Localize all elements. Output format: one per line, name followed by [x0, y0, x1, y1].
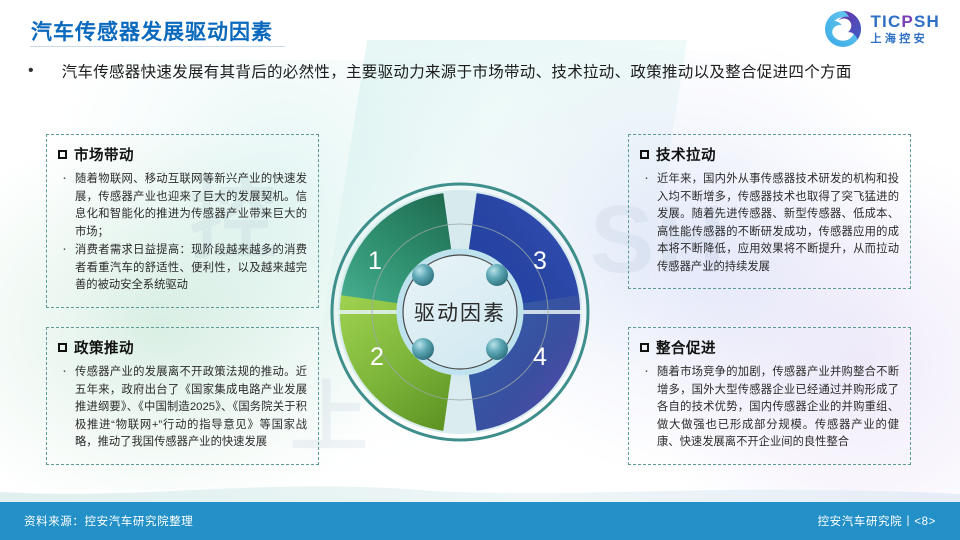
panel-policy-driven: 政策推动 传感器产业的发展离不开政策法规的推动。近五年来，政府出台了《国家集成电… [46, 327, 319, 465]
square-bullet-icon [640, 150, 649, 159]
panel-bullet-list: 近年来，国内外从事传感器技术研发的机构和投入均不断增多，传感器技术也取得了突飞猛… [640, 171, 899, 276]
panel-title-text: 市场带动 [74, 144, 134, 165]
list-item: 近年来，国内外从事传感器技术研发的机构和投入均不断增多，传感器技术也取得了突飞猛… [640, 171, 899, 276]
page-title: 汽车传感器发展驱动因素 [31, 16, 273, 46]
panel-technology-driven: 技术拉动 近年来，国内外从事传感器技术研发的机构和投入均不断增多，传感器技术也取… [628, 134, 911, 289]
list-item: 随着市场竞争的加剧，传感器产业并购整合不断增多，国外大型传感器企业已经通过并购形… [640, 364, 899, 452]
node-marker-4 [486, 338, 508, 360]
lead-bullet-block: • 汽车传感器快速发展有其背后的必然性，主要驱动力来源于市场带动、技术拉动、政策… [28, 60, 908, 85]
panel-market-driven: 市场带动 随着物联网、移动互联网等新兴产业的快速发展，传感器产业也迎来了巨大的发… [46, 134, 319, 308]
panel-title: 整合促进 [640, 337, 899, 358]
lead-bullet-text: 汽车传感器快速发展有其背后的必然性，主要驱动力来源于市场带动、技术拉动、政策推动… [44, 60, 852, 85]
panel-title-text: 技术拉动 [656, 144, 716, 165]
slide-footer: 资料来源：控安汽车研究院整理 控安汽车研究院丨<8> [0, 502, 960, 540]
square-bullet-icon [58, 150, 67, 159]
panel-title: 技术拉动 [640, 144, 899, 165]
footer-credit-text: 控安汽车研究院丨<8> [818, 513, 936, 529]
panel-title-text: 整合促进 [656, 337, 716, 358]
panel-bullet-list: 随着物联网、移动互联网等新兴产业的快速发展，传感器产业也迎来了巨大的发展契机。信… [58, 171, 307, 295]
node-marker-1 [412, 264, 434, 286]
panel-bullet-list: 传感器产业的发展离不开政策法规的推动。近五年来，政府出台了《国家集成电路产业发展… [58, 364, 307, 452]
panel-bullet-list: 随着市场竞争的加剧，传感器产业并购整合不断增多，国外大型传感器企业已经通过并购形… [640, 364, 899, 452]
logo-wordmark: TICPSH 上海控安 [870, 13, 940, 45]
panel-consolidation-driven: 整合促进 随着市场竞争的加剧，传感器产业并购整合不断增多，国外大型传感器企业已经… [628, 327, 911, 465]
node-marker-3 [486, 264, 508, 286]
logo-text-tic: TIC [870, 12, 901, 31]
panel-title: 政策推动 [58, 337, 307, 358]
panel-title: 市场带动 [58, 144, 307, 165]
square-bullet-icon [58, 343, 67, 352]
logo-text-sh: SH [914, 12, 940, 31]
list-item: 随着物联网、移动互联网等新兴产业的快速发展，传感器产业也迎来了巨大的发展契机。信… [58, 171, 307, 241]
footer-wave-decoration [0, 476, 960, 502]
brand-logo: TICPSH 上海控安 [823, 8, 940, 50]
panel-title-text: 政策推动 [74, 337, 134, 358]
logo-text-p: P [901, 12, 914, 31]
list-item: 传感器产业的发展离不开政策法规的推动。近五年来，政府出台了《国家集成电路产业发展… [58, 364, 307, 452]
ticpsh-swirl-icon [823, 9, 863, 49]
list-item: 消费者需求日益提高：现阶段越来越多的消费者看重汽车的舒适性、便利性，以及越来越完… [58, 242, 307, 295]
footer-source-text: 资料来源：控安汽车研究院整理 [24, 513, 193, 529]
square-bullet-icon [640, 343, 649, 352]
lead-bullet-marker: • [28, 60, 34, 82]
driver-factors-donut-diagram: 驱动因素 1 2 3 4 [325, 177, 595, 447]
logo-subtitle: 上海控安 [870, 34, 940, 45]
node-marker-2 [412, 338, 434, 360]
title-divider [30, 46, 285, 47]
